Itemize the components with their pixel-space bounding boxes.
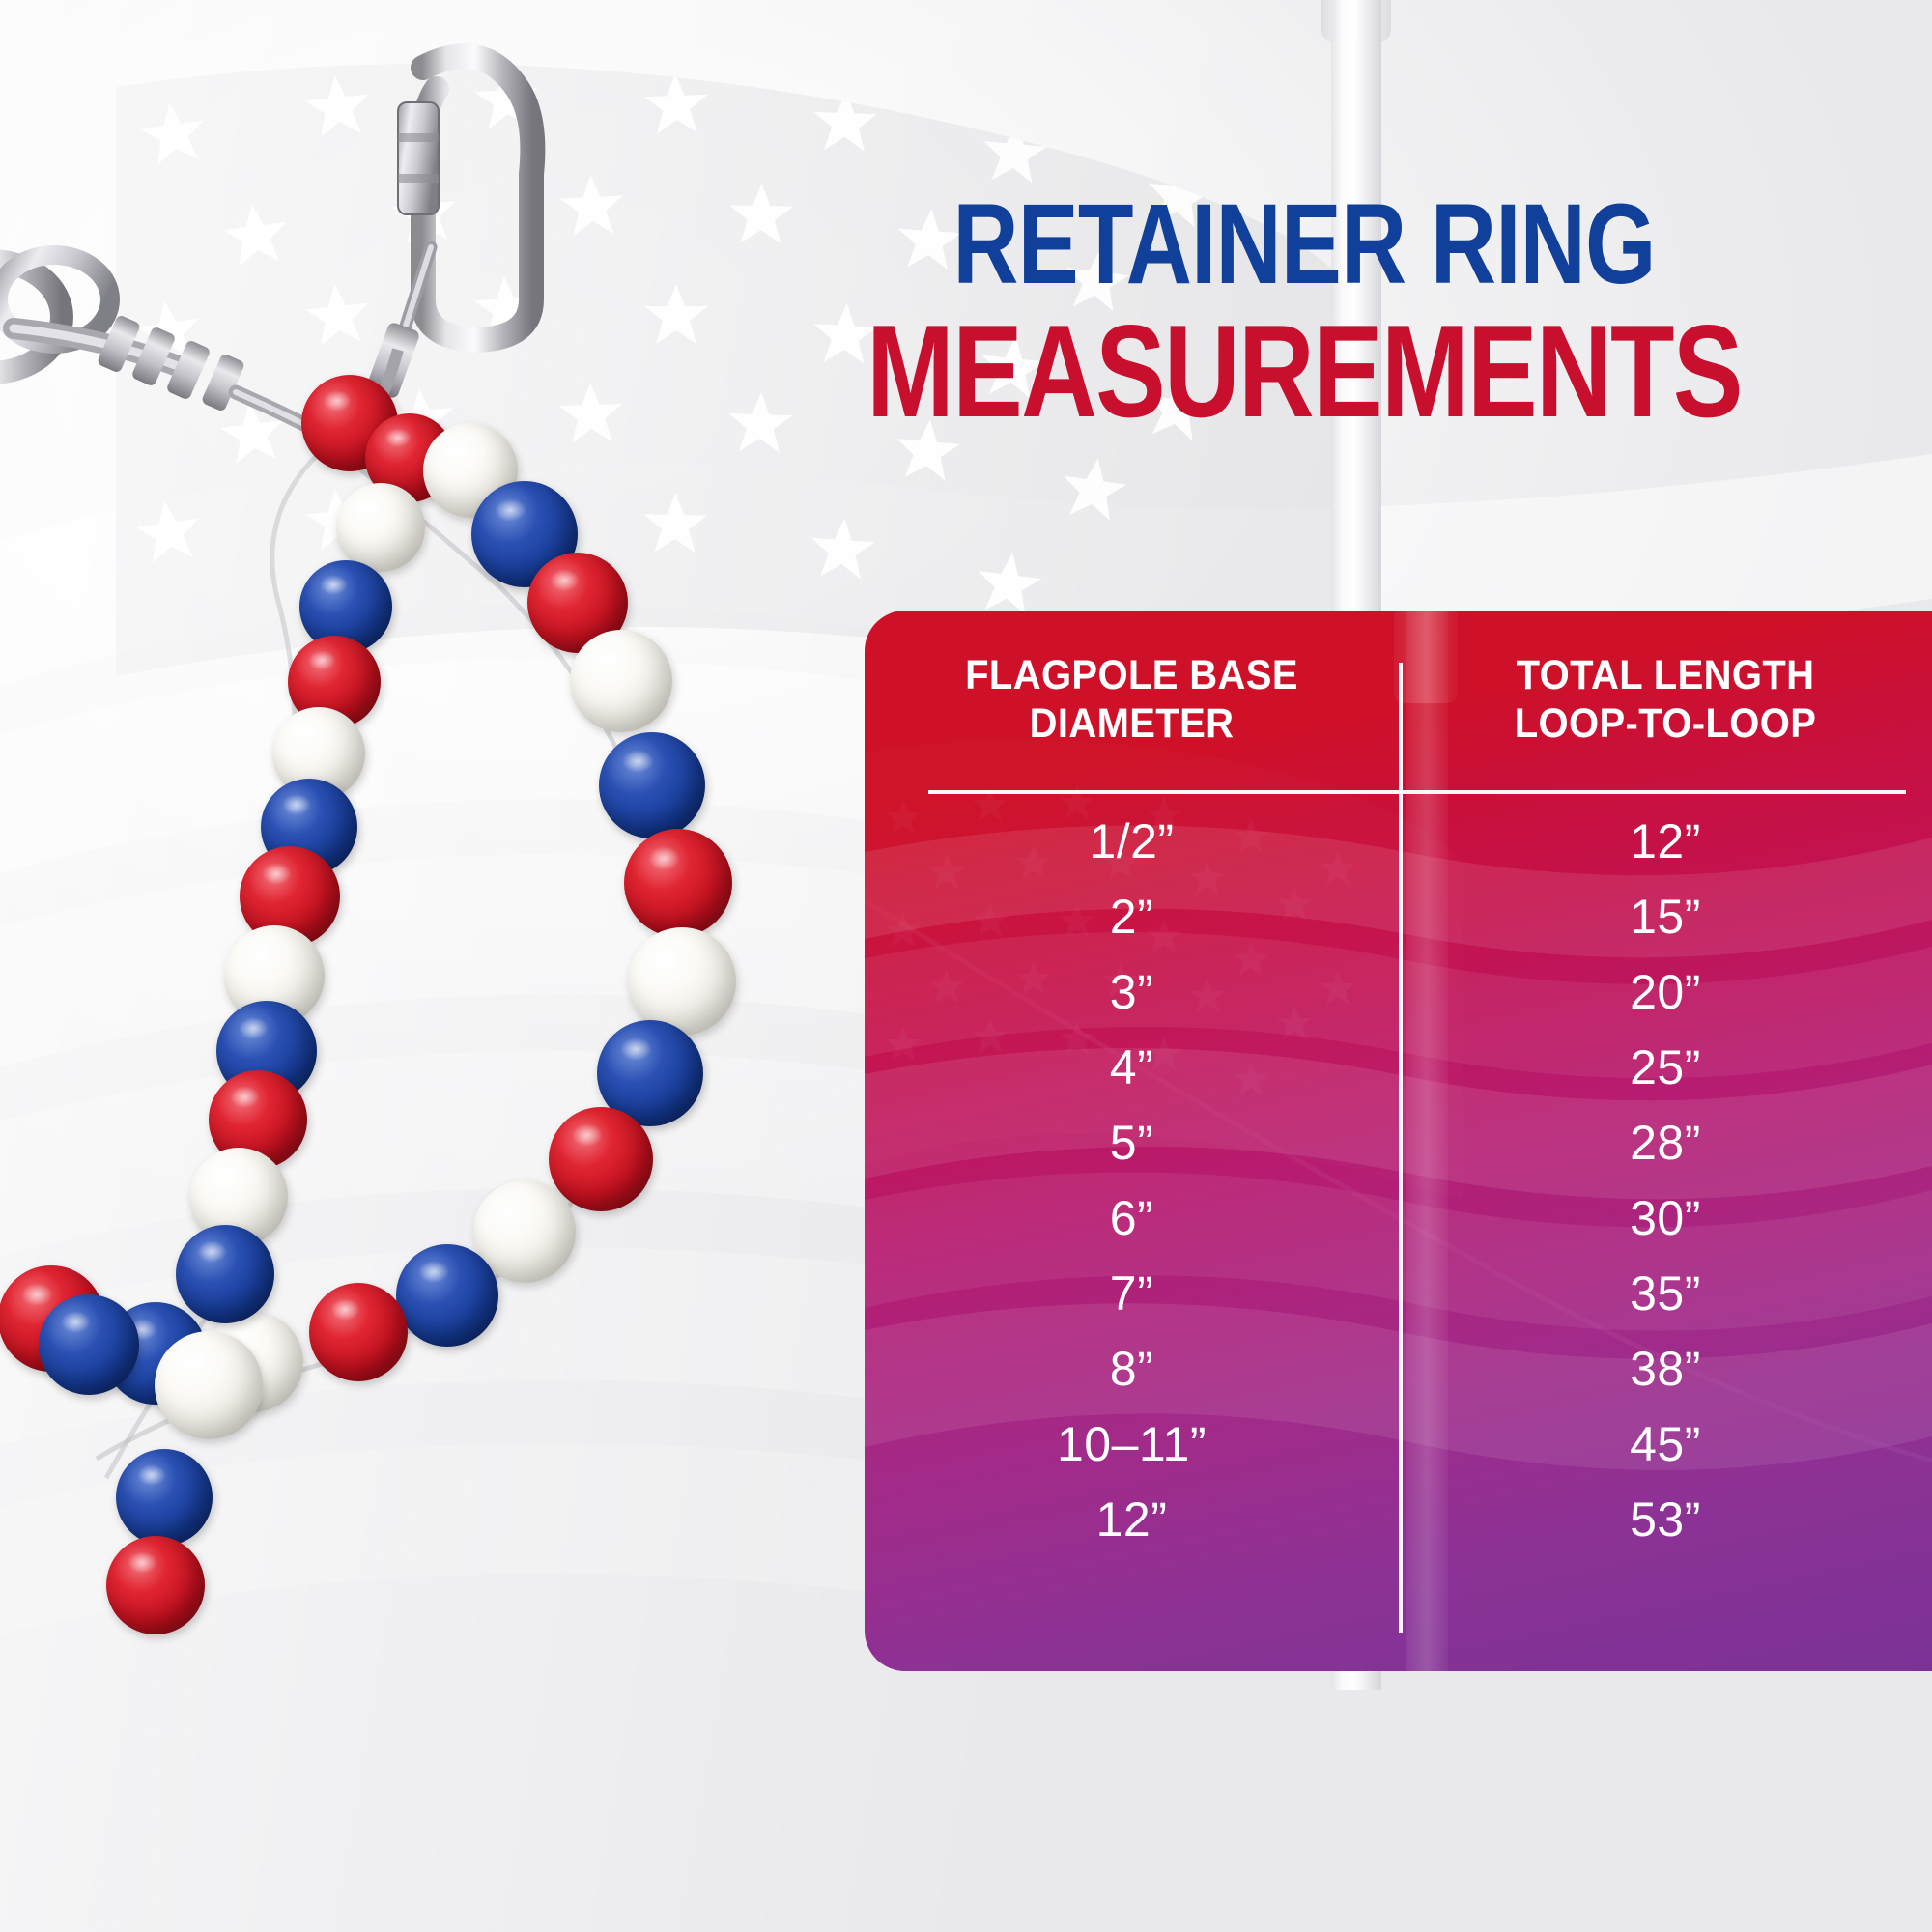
cell-flagpole-base-diameter: 1/2” — [865, 813, 1399, 869]
cell-flagpole-base-diameter: 6” — [865, 1190, 1399, 1246]
bead — [624, 829, 732, 937]
column-header-line-1: TOTAL LENGTH — [1517, 652, 1815, 700]
bead — [570, 630, 672, 732]
bead — [628, 927, 736, 1036]
cell-flagpole-base-diameter: 10–11” — [865, 1416, 1399, 1472]
cell-total-length-loop-to-loop: 35” — [1399, 1265, 1932, 1321]
table-row: 8”38” — [865, 1331, 1932, 1406]
table-body: 1/2”12”2”15”3”20”4”25”5”28”6”30”7”35”8”3… — [865, 804, 1932, 1557]
column-header-line-2: LOOP-TO-LOOP — [1515, 700, 1817, 749]
bead — [309, 1283, 408, 1381]
bead — [176, 1225, 274, 1323]
cell-flagpole-base-diameter: 12” — [865, 1492, 1399, 1548]
bead — [549, 1107, 653, 1211]
cell-flagpole-base-diameter: 8” — [865, 1341, 1399, 1397]
bead — [106, 1536, 205, 1634]
cell-total-length-loop-to-loop: 15” — [1399, 889, 1932, 945]
column-header-line-1: FLAGPOLE BASE — [965, 652, 1298, 700]
column-header-total-length-loop-to-loop: TOTAL LENGTH LOOP-TO-LOOP — [1417, 611, 1913, 790]
cell-flagpole-base-diameter: 5” — [865, 1115, 1399, 1171]
page-title: RETAINER RING MEASUREMENTS — [676, 189, 1932, 436]
cell-flagpole-base-diameter: 7” — [865, 1265, 1399, 1321]
table-row: 7”35” — [865, 1256, 1932, 1331]
table-row: 6”30” — [865, 1180, 1932, 1256]
table-row: 5”28” — [865, 1105, 1932, 1180]
table-row: 12”53” — [865, 1482, 1932, 1557]
cell-flagpole-base-diameter: 2” — [865, 889, 1399, 945]
column-header-flagpole-base-diameter: FLAGPOLE BASE DIAMETER — [883, 611, 1379, 790]
cell-total-length-loop-to-loop: 20” — [1399, 964, 1932, 1020]
cell-flagpole-base-diameter: 3” — [865, 964, 1399, 1020]
infographic-canvas: RETAINER RING MEASUREMENTS — [0, 0, 1932, 1932]
header-divider-rule — [928, 790, 1906, 794]
column-header-line-2: DIAMETER — [1030, 700, 1235, 749]
measurement-table-panel: FLAGPOLE BASE DIAMETER TOTAL LENGTH LOOP… — [865, 611, 1932, 1671]
bead — [336, 483, 425, 572]
cell-total-length-loop-to-loop: 38” — [1399, 1341, 1932, 1397]
bead — [39, 1294, 139, 1395]
cell-flagpole-base-diameter: 4” — [865, 1039, 1399, 1095]
cell-total-length-loop-to-loop: 45” — [1399, 1416, 1932, 1472]
cell-total-length-loop-to-loop: 12” — [1399, 813, 1932, 869]
table-row: 2”15” — [865, 879, 1932, 954]
bead — [116, 1449, 213, 1546]
cable-thimble-assembly — [0, 255, 317, 431]
table-row: 10–11”45” — [865, 1406, 1932, 1482]
table-row: 1/2”12” — [865, 804, 1932, 879]
cell-total-length-loop-to-loop: 30” — [1399, 1190, 1932, 1246]
title-line-measurements: MEASUREMENTS — [802, 307, 1806, 436]
table-row: 4”25” — [865, 1030, 1932, 1105]
bead — [155, 1331, 263, 1439]
bead — [599, 732, 705, 838]
cell-total-length-loop-to-loop: 53” — [1399, 1492, 1932, 1548]
cell-total-length-loop-to-loop: 25” — [1399, 1039, 1932, 1095]
table-row: 3”20” — [865, 954, 1932, 1030]
bead — [396, 1244, 498, 1347]
cell-total-length-loop-to-loop: 28” — [1399, 1115, 1932, 1171]
title-line-retainer-ring: RETAINER RING — [802, 189, 1806, 301]
